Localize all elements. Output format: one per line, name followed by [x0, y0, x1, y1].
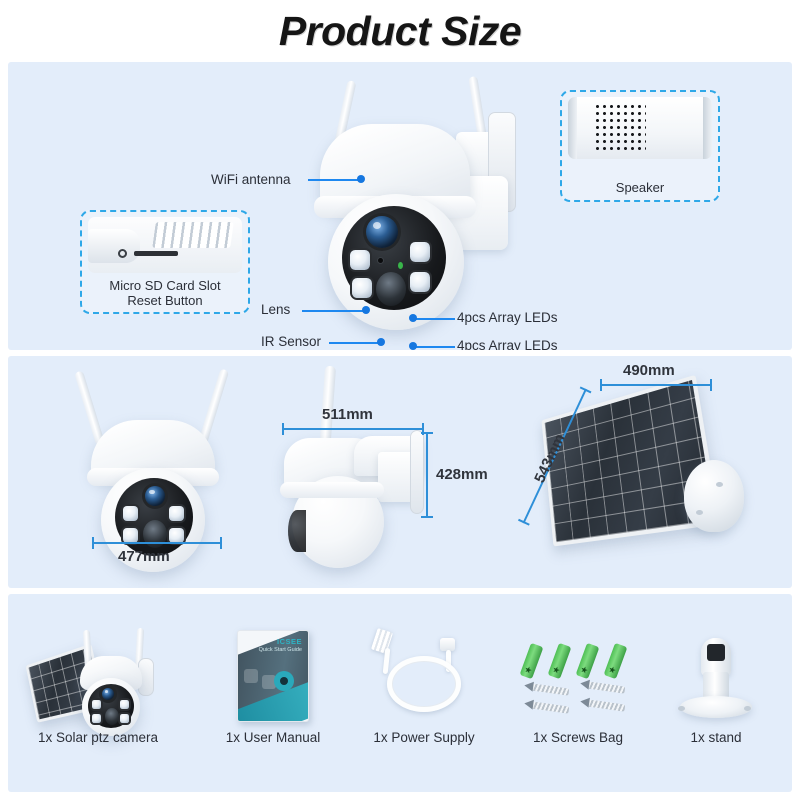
vent-slots-icon	[152, 222, 234, 248]
sd-card-caption: Micro SD Card Slot Reset Button	[82, 278, 248, 309]
speaker-shade-right	[703, 97, 712, 159]
lens-icon	[102, 688, 114, 700]
leader-dot-wifi-antenna	[357, 175, 365, 183]
dimension-line-solar-width	[600, 384, 712, 386]
package-label-power-supply: 1x Power Supply	[348, 730, 500, 745]
dimension-label-428mm: 428mm	[436, 466, 488, 483]
sd-slot-illustration	[88, 217, 242, 273]
callout-label-leds-lower: 4pcs Array LEDs	[457, 338, 558, 350]
speaker-shade-left	[568, 97, 577, 159]
bracket-hole-upper	[716, 482, 723, 487]
solar-ptz-camera-illustration	[22, 626, 174, 722]
leader-line-lens	[302, 310, 366, 312]
ptz-camera-main	[298, 72, 548, 337]
stand-base-plate	[680, 696, 752, 718]
sd-caption-line2: Reset Button	[127, 293, 202, 308]
stand-clamp	[707, 644, 725, 661]
package-item-solar-ptz-camera: 1x Solar ptz camera	[22, 626, 174, 722]
leader-dot-lens	[362, 306, 370, 314]
leader-line-ir-sensor	[329, 342, 381, 344]
camera-faceplate-edge	[288, 510, 306, 552]
camera-front-view	[63, 364, 253, 554]
package-label-screws-bag: 1x Screws Bag	[503, 730, 653, 745]
callout-label-leds-upper: 4pcs Array LEDs	[457, 310, 558, 325]
bracket-hole-lower	[696, 510, 703, 515]
camera-hood-lip	[280, 482, 384, 498]
led-bottom-right	[120, 714, 129, 723]
stand-illustration	[656, 626, 776, 722]
pir-sensor	[376, 272, 406, 306]
wall-anchor-2	[548, 643, 572, 679]
screw-4	[587, 699, 626, 711]
speaker-grille-icon	[594, 103, 646, 151]
dimension-line-front-width	[92, 542, 222, 544]
led-bottom-left	[123, 528, 138, 543]
microsd-slot-icon	[134, 251, 178, 256]
wall-anchor-4	[604, 643, 628, 679]
screw-1	[531, 683, 570, 695]
antenna-left-icon	[74, 370, 105, 445]
led-top-right	[120, 700, 129, 709]
dimension-label-511mm: 511mm	[322, 406, 373, 423]
leader-dot-leds-lower	[409, 342, 417, 350]
screw-2	[587, 681, 626, 693]
leader-dot-leds-upper	[409, 314, 417, 322]
manual-brand: ICSEE	[277, 637, 302, 646]
dimension-line-side-height	[426, 432, 428, 518]
package-label-stand: 1x stand	[656, 730, 776, 745]
cable-coil	[387, 656, 461, 712]
callout-label-wifi-antenna: WiFi antenna	[211, 172, 291, 187]
led-top-right	[169, 506, 184, 521]
status-led-icon	[398, 262, 403, 269]
led-bottom-left	[352, 278, 372, 298]
package-item-stand: 1x stand	[656, 626, 776, 722]
sd-caption-line1: Micro SD Card Slot	[109, 278, 220, 293]
features-panel: WiFi antenna Lens IR Sensor 4pcs Array L…	[8, 62, 792, 350]
camera-side-view	[270, 360, 450, 560]
leader-dot-ir-sensor	[377, 338, 385, 346]
leader-line-wifi-antenna	[308, 179, 362, 181]
ir-sensor-icon	[378, 258, 383, 263]
reset-button-icon	[118, 249, 127, 258]
speaker-illustration	[568, 97, 712, 159]
package-item-power-supply: 1x Power Supply	[348, 626, 500, 722]
screws-bag-illustration	[503, 626, 653, 722]
led-bottom-right	[410, 272, 430, 292]
callout-label-ir-sensor: IR Sensor	[261, 334, 321, 349]
pir-sensor	[105, 708, 119, 725]
wall-anchor-1	[520, 643, 544, 679]
package-contents-panel: 1x Solar ptz camera ICSEE Quick Start Gu…	[8, 594, 792, 792]
manual-subtitle: Quick Start Guide	[259, 647, 302, 653]
cover-square-1	[244, 669, 258, 683]
package-label-solar-ptz-camera: 1x Solar ptz camera	[22, 730, 174, 745]
dimensions-panel: 477mm 511mm 428mm 490mm 543mm	[8, 356, 792, 588]
lens-icon	[145, 486, 165, 506]
callout-label-lens: Lens	[261, 302, 290, 317]
dimension-label-477mm: 477mm	[118, 548, 170, 565]
title-bar: Product Size	[0, 0, 800, 62]
led-bottom-left	[92, 714, 101, 723]
product-size-infographic: Product Size	[0, 0, 800, 800]
led-top-right	[410, 242, 430, 262]
dimension-line-side-width	[282, 428, 424, 430]
user-manual-illustration: ICSEE Quick Start Guide	[198, 626, 348, 722]
wall-plate	[410, 430, 424, 514]
led-top-left	[92, 700, 101, 709]
page-title: Product Size	[279, 8, 521, 55]
led-bottom-right	[169, 528, 184, 543]
wall-anchor-3	[576, 643, 600, 679]
power-supply-illustration	[348, 626, 500, 722]
sd-card-box: Micro SD Card Slot Reset Button	[80, 210, 250, 314]
cover-lens-graphic	[274, 671, 294, 691]
stand-screw-hole-right	[744, 706, 751, 711]
package-item-user-manual: ICSEE Quick Start Guide 1x User Manual	[198, 626, 348, 722]
speaker-caption: Speaker	[562, 180, 718, 196]
package-item-screws-bag: 1x Screws Bag	[503, 626, 653, 722]
solar-panel-bracket	[684, 460, 744, 532]
camera-underside	[88, 229, 140, 263]
package-label-user-manual: 1x User Manual	[198, 730, 348, 745]
leader-line-leds-upper	[413, 318, 455, 320]
led-top-left	[123, 506, 138, 521]
speaker-box: Speaker	[560, 90, 720, 202]
leader-line-leds-lower	[413, 346, 455, 348]
screw-3	[531, 701, 570, 713]
led-top-left	[350, 250, 370, 270]
stand-screw-hole-left	[678, 706, 685, 711]
manual-cover: ICSEE Quick Start Guide	[237, 630, 309, 722]
lens-icon	[366, 216, 398, 248]
dimension-label-490mm: 490mm	[623, 362, 675, 379]
